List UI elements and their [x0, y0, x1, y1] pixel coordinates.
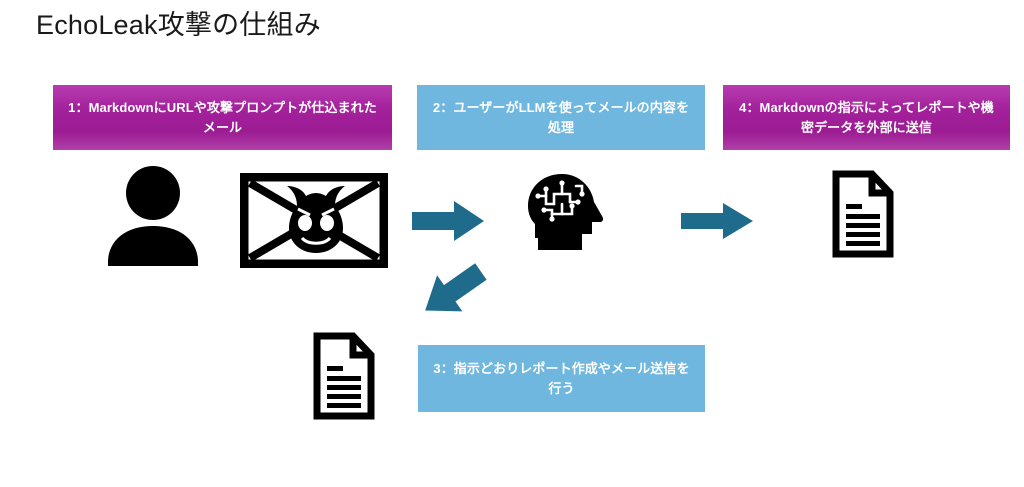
arrow-right-to-document-icon — [681, 202, 753, 240]
step-box-1-label: 1：MarkdownにURLや攻撃プロンプトが仕込まれたメール — [63, 98, 382, 138]
step-box-4: 4：Markdownの指示によってレポートや機密データを外部に送信 — [723, 85, 1010, 150]
step-box-3: 3：指示どおりレポート作成やメール送信を行う — [418, 345, 705, 412]
document-icon-report — [832, 170, 894, 258]
ai-head-icon — [520, 172, 616, 250]
arrow-right-to-llm-icon — [412, 200, 484, 242]
arrow-down-left-to-step3-icon — [417, 262, 489, 320]
step-box-2: 2：ユーザーがLLMを使ってメールの内容を処理 — [417, 85, 705, 150]
step-box-3-label: 3：指示どおりレポート作成やメール送信を行う — [428, 359, 695, 399]
document-icon-output — [313, 332, 375, 420]
page-title: EchoLeak攻撃の仕組み — [36, 8, 321, 42]
step-box-2-label: 2：ユーザーがLLMを使ってメールの内容を処理 — [427, 98, 695, 138]
step-box-1: 1：MarkdownにURLや攻撃プロンプトが仕込まれたメール — [53, 85, 392, 150]
step-box-4-label: 4：Markdownの指示によってレポートや機密データを外部に送信 — [733, 98, 1000, 138]
malicious-envelope-icon — [240, 173, 388, 268]
diagram-canvas: EchoLeak攻撃の仕組み 1：MarkdownにURLや攻撃プロンプトが仕込… — [0, 0, 1024, 487]
person-icon — [100, 166, 206, 266]
